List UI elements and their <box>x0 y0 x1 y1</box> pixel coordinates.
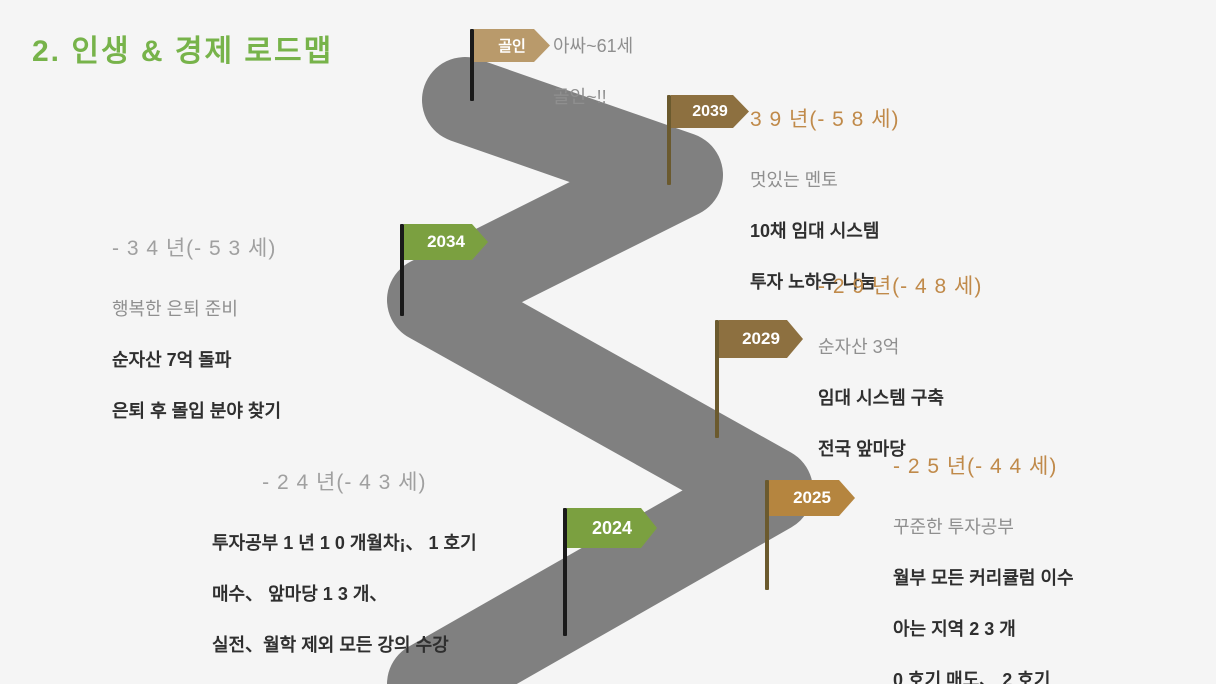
flag-banner-label: 2034 <box>404 224 488 260</box>
slide-canvas: 2. 인생 & 경제 로드맵 골인 아싸~61세 골인~!! 2039 3 9 … <box>0 0 1216 684</box>
flag-banner-label: 2039 <box>671 95 749 128</box>
flag-pole <box>563 508 567 636</box>
body-line: 투자공부 1 년 1 0 개월차¡、 1 호기 <box>212 531 477 557</box>
flag-2024[interactable]: 2024 <box>563 508 663 636</box>
body-line: 행복한 은퇴 준비 <box>112 297 281 323</box>
flag-banner-label: 2025 <box>769 480 855 516</box>
milestone-heading: - 2 4 년(- 4 3 세) <box>212 466 477 496</box>
milestone-heading: - 2 9 년(- 4 8 세) <box>818 270 982 300</box>
flag-pole <box>667 95 671 185</box>
body-line: 아싸~61세 <box>553 34 633 60</box>
body-line: 순자산 3억 <box>818 335 982 361</box>
milestone-block-2024: - 2 4 년(- 4 3 세) 투자공부 1 년 1 0 개월차¡、 1 호기… <box>212 466 477 684</box>
body-line: 은퇴 후 몰입 분야 찾기 <box>112 399 281 425</box>
body-line: 월부 모든 커리큘럼 이수 <box>893 566 1074 592</box>
flag-2029[interactable]: 2029 <box>715 320 815 438</box>
flag-2034[interactable]: 2034 <box>400 224 495 316</box>
milestone-body: 아싸~61세 골인~!! <box>553 8 633 136</box>
body-line: 실전、월학 제외 모든 강의 수강 <box>212 633 477 659</box>
body-line: 0 호기 매도、 2 호기 <box>893 668 1074 684</box>
flag-2039[interactable]: 2039 <box>667 95 762 185</box>
flag-pole <box>715 320 719 438</box>
flag-banner-label: 골인 <box>474 29 550 62</box>
flag-pole <box>400 224 404 316</box>
body-line: 매수、 앞마당 1 3 개、 <box>212 582 477 608</box>
milestone-heading: - 2 5 년(- 4 4 세) <box>893 450 1074 480</box>
body-line: 임대 시스템 구축 <box>818 386 982 412</box>
body-line: 골인~!! <box>553 85 633 111</box>
milestone-block-2025: - 2 5 년(- 4 4 세) 꾸준한 투자공부 월부 모든 커리큘럼 이수 … <box>893 450 1074 684</box>
flag-pole <box>470 29 474 101</box>
body-line: 순자산 7억 돌파 <box>112 348 281 374</box>
body-line: 멋있는 멘토 <box>750 168 900 194</box>
milestone-block-2034: - 3 4 년(- 5 3 세) 행복한 은퇴 준비 순자산 7억 돌파 은퇴 … <box>112 232 281 450</box>
milestone-body: 꾸준한 투자공부 월부 모든 커리큘럼 이수 아는 지역 2 3 개 0 호기 … <box>893 489 1074 684</box>
milestone-body: 투자공부 1 년 1 0 개월차¡、 1 호기 매수、 앞마당 1 3 개、 실… <box>212 505 477 684</box>
flag-banner-label: 2029 <box>719 320 803 358</box>
body-line: 10채 임대 시스템 <box>750 219 900 245</box>
milestone-body: 행복한 은퇴 준비 순자산 7억 돌파 은퇴 후 몰입 분야 찾기 <box>112 271 281 450</box>
body-line: 꾸준한 투자공부 <box>893 515 1074 541</box>
body-line: 아는 지역 2 3 개 <box>893 617 1074 643</box>
milestone-heading: 3 9 년(- 5 8 세) <box>750 103 900 133</box>
flag-pole <box>765 480 769 590</box>
milestone-block-goal: 아싸~61세 골인~!! <box>553 8 633 136</box>
flag-goal[interactable]: 골인 <box>470 29 565 101</box>
flag-2025[interactable]: 2025 <box>765 480 865 590</box>
flag-banner-label: 2024 <box>567 508 657 548</box>
milestone-heading: - 3 4 년(- 5 3 세) <box>112 232 281 262</box>
